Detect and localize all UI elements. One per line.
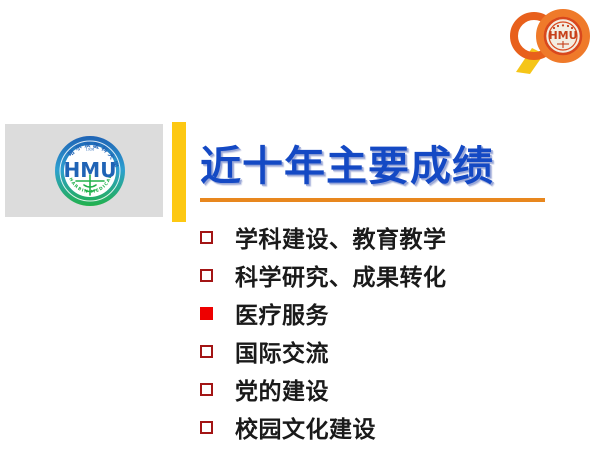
- list-item[interactable]: 学科建设、教育教学: [200, 218, 580, 256]
- list-item-label: 国际交流: [235, 334, 329, 368]
- list-item[interactable]: 党的建设: [200, 370, 580, 408]
- bullet-square-icon: [200, 383, 213, 396]
- bullet-square-icon: [200, 421, 213, 434]
- page-title: 近十年主要成绩: [200, 140, 550, 192]
- university-seal-graphic: 哈尔滨医科大学 HARBIN MEDICAL UNIVERSITY 1926 H…: [54, 135, 126, 207]
- gold-accent-bar: [172, 122, 186, 222]
- list-item-label: 医疗服务: [235, 296, 329, 330]
- list-item[interactable]: 国际交流: [200, 332, 580, 370]
- university-logo-panel: 哈尔滨医科大学 HARBIN MEDICAL UNIVERSITY 1926 H…: [5, 124, 163, 217]
- list-item[interactable]: 科学研究、成果转化: [200, 256, 580, 294]
- bullet-square-icon: [200, 345, 213, 358]
- bullet-square-icon: [200, 231, 213, 244]
- bullet-list: 学科建设、教育教学 科学研究、成果转化 医疗服务 国际交流 党的建设 校园文化建…: [200, 218, 580, 446]
- university-seal: 哈尔滨医科大学 HARBIN MEDICAL UNIVERSITY 1926 H…: [54, 135, 126, 207]
- list-item[interactable]: 医疗服务: [200, 294, 580, 332]
- bullet-square-filled-icon: [200, 307, 213, 320]
- anniversary-logo-graphic: HMU: [496, 4, 596, 76]
- anniversary-seal-abbreviation: HMU: [548, 29, 577, 42]
- list-item-label: 校园文化建设: [235, 410, 376, 444]
- list-item-label: 学科建设、教育教学: [235, 220, 447, 254]
- presentation-slide: HMU: [0, 0, 600, 450]
- list-item-label: 科学研究、成果转化: [235, 258, 447, 292]
- title-underline-rule: [200, 198, 545, 202]
- seal-founding-year: 1926: [86, 148, 95, 152]
- bullet-square-icon: [200, 269, 213, 282]
- 90th-anniversary-logo: HMU: [496, 4, 596, 76]
- list-item-label: 党的建设: [235, 372, 329, 406]
- list-item[interactable]: 校园文化建设: [200, 408, 580, 446]
